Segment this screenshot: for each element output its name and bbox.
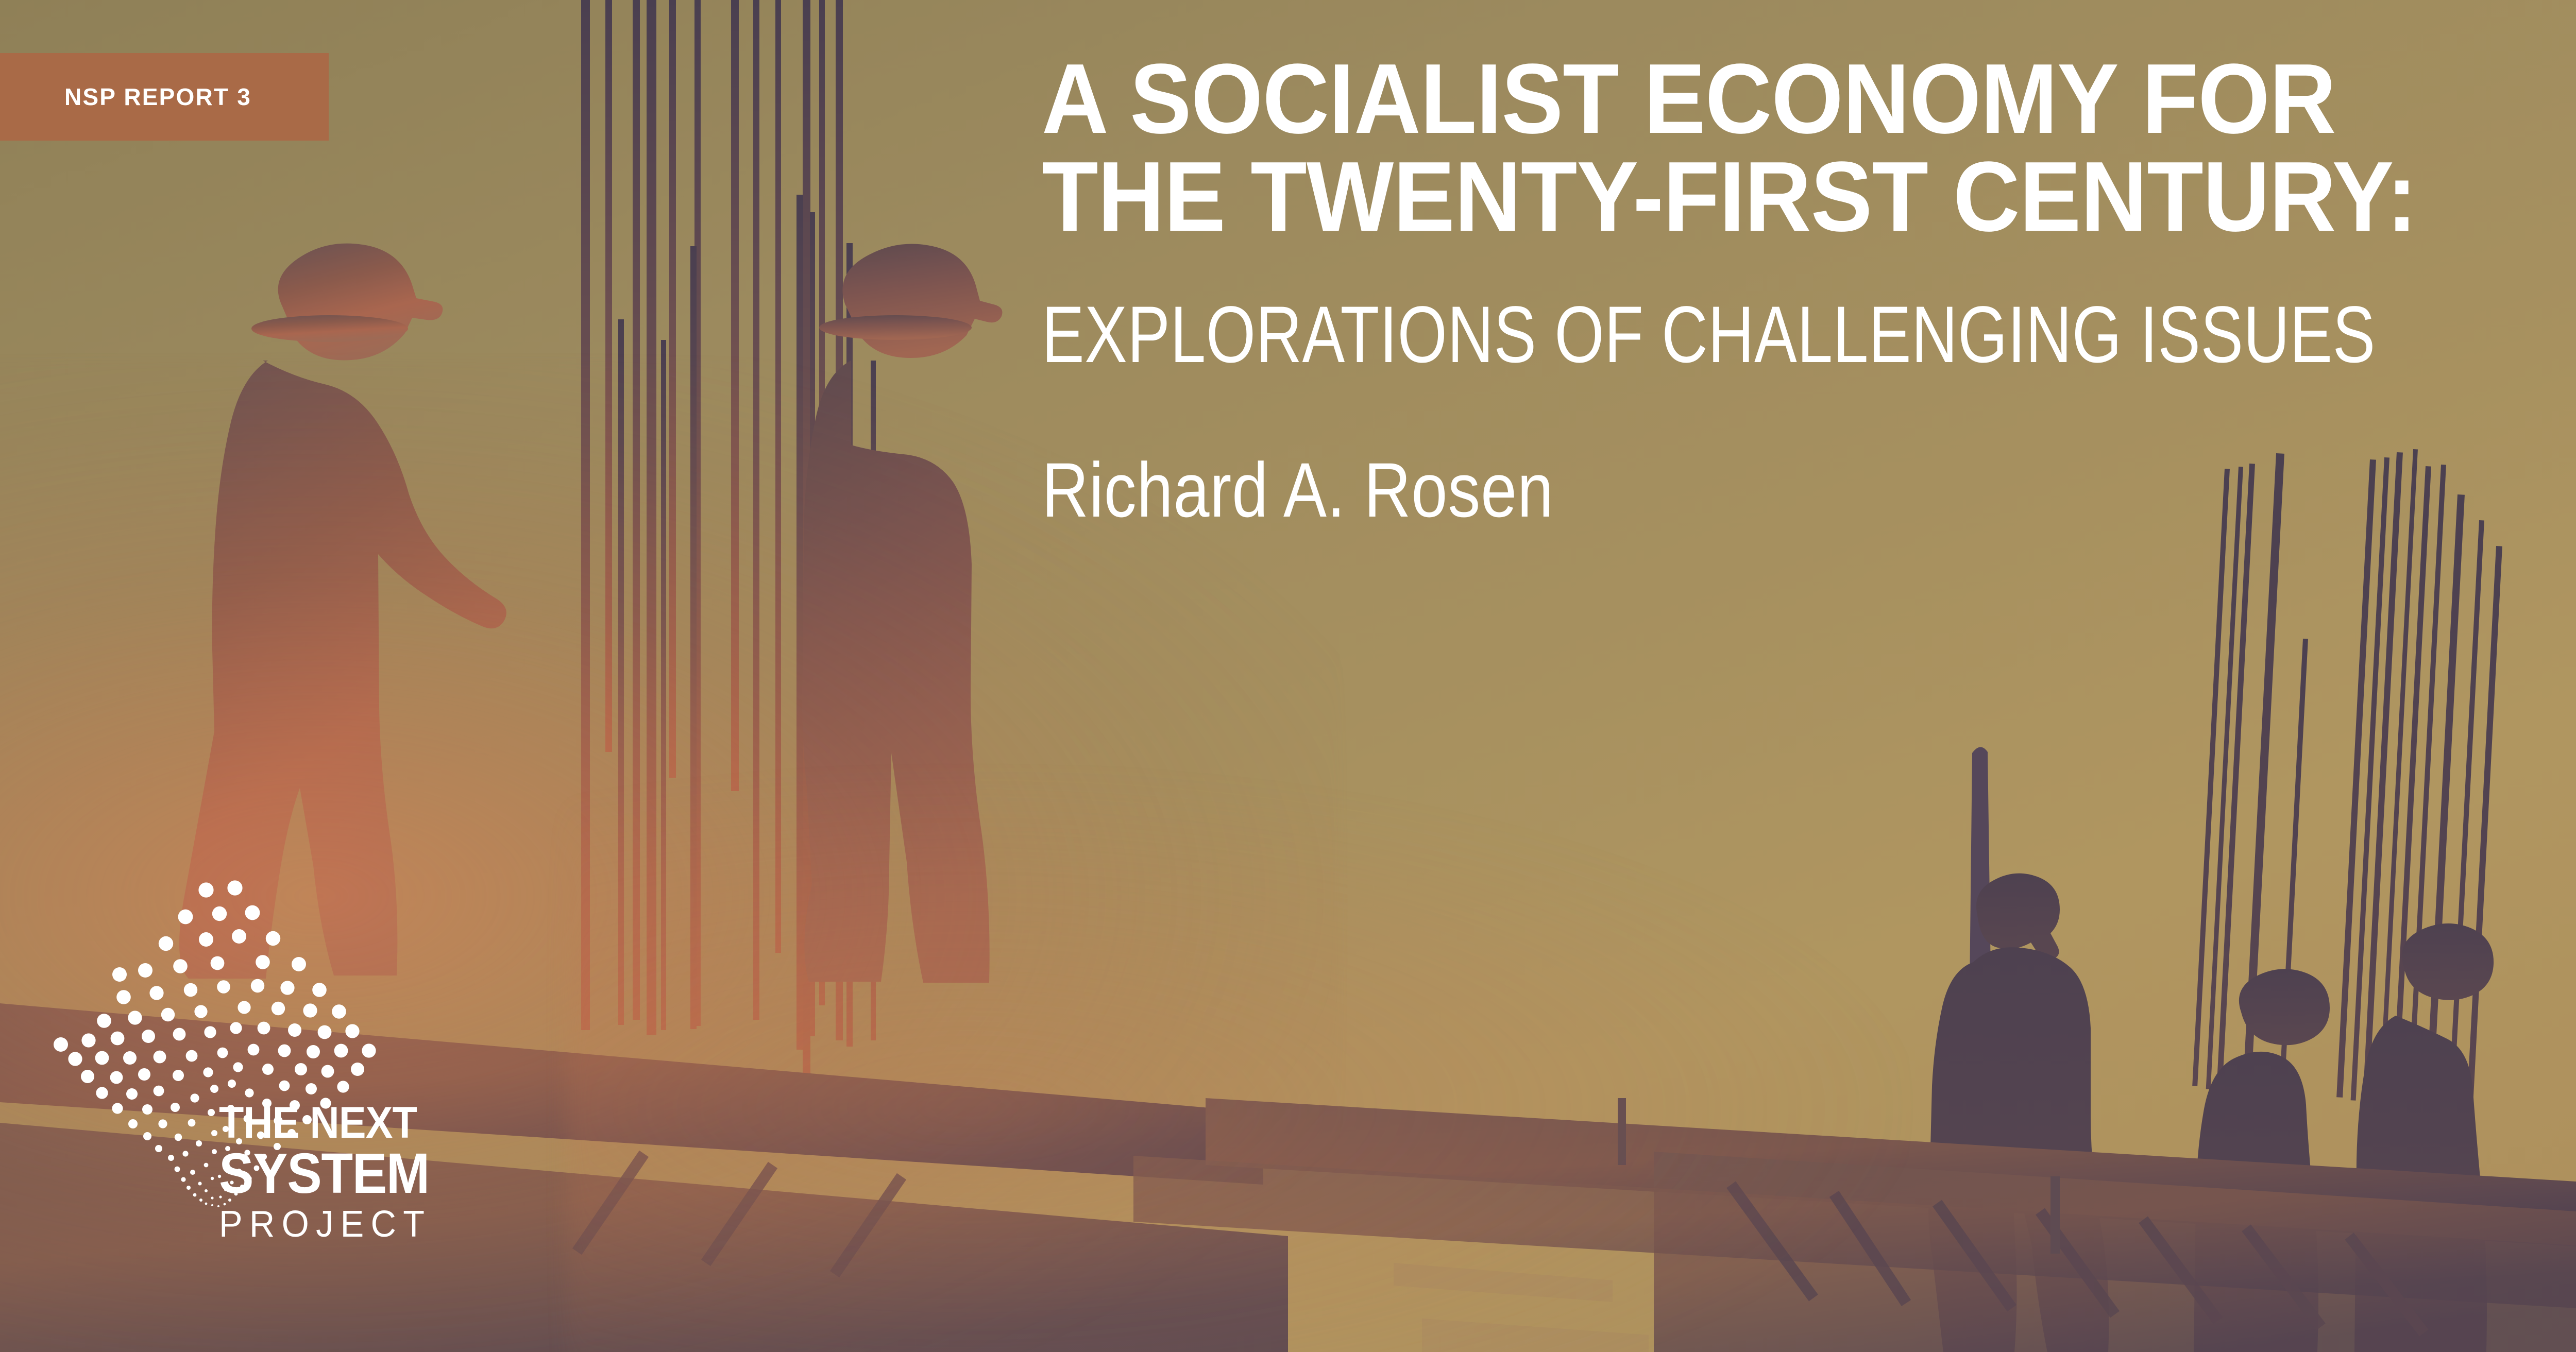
publisher-logo: THE NEXT SYSTEM PROJECT <box>31 845 505 1339</box>
logo-line-project: PROJECT <box>219 1207 436 1242</box>
title-block: A SOCIALIST ECONOMY FOR THE TWENTY-FIRST… <box>1042 49 2551 528</box>
report-number-badge: NSP REPORT 3 <box>0 53 329 141</box>
page-title: A SOCIALIST ECONOMY FOR THE TWENTY-FIRST… <box>1042 49 2446 245</box>
page-subtitle: EXPLORATIONS OF CHALLENGING ISSUES <box>1042 295 2242 375</box>
sun-glow-secondary <box>567 773 1906 1352</box>
logo-line-system: SYSTEM <box>219 1147 429 1200</box>
logo-line-the-next: THE NEXT <box>219 1102 429 1144</box>
author-name: Richard A. Rosen <box>1042 451 2310 528</box>
rebar-bundle-right <box>2192 449 2502 1122</box>
logo-wordmark: THE NEXT SYSTEM PROJECT <box>219 1102 447 1242</box>
report-number-label: NSP REPORT 3 <box>64 85 251 109</box>
report-cover: NSP REPORT 3 A SOCIALIST ECONOMY FOR THE… <box>0 0 2576 1352</box>
worker-left-helmet <box>251 315 408 342</box>
